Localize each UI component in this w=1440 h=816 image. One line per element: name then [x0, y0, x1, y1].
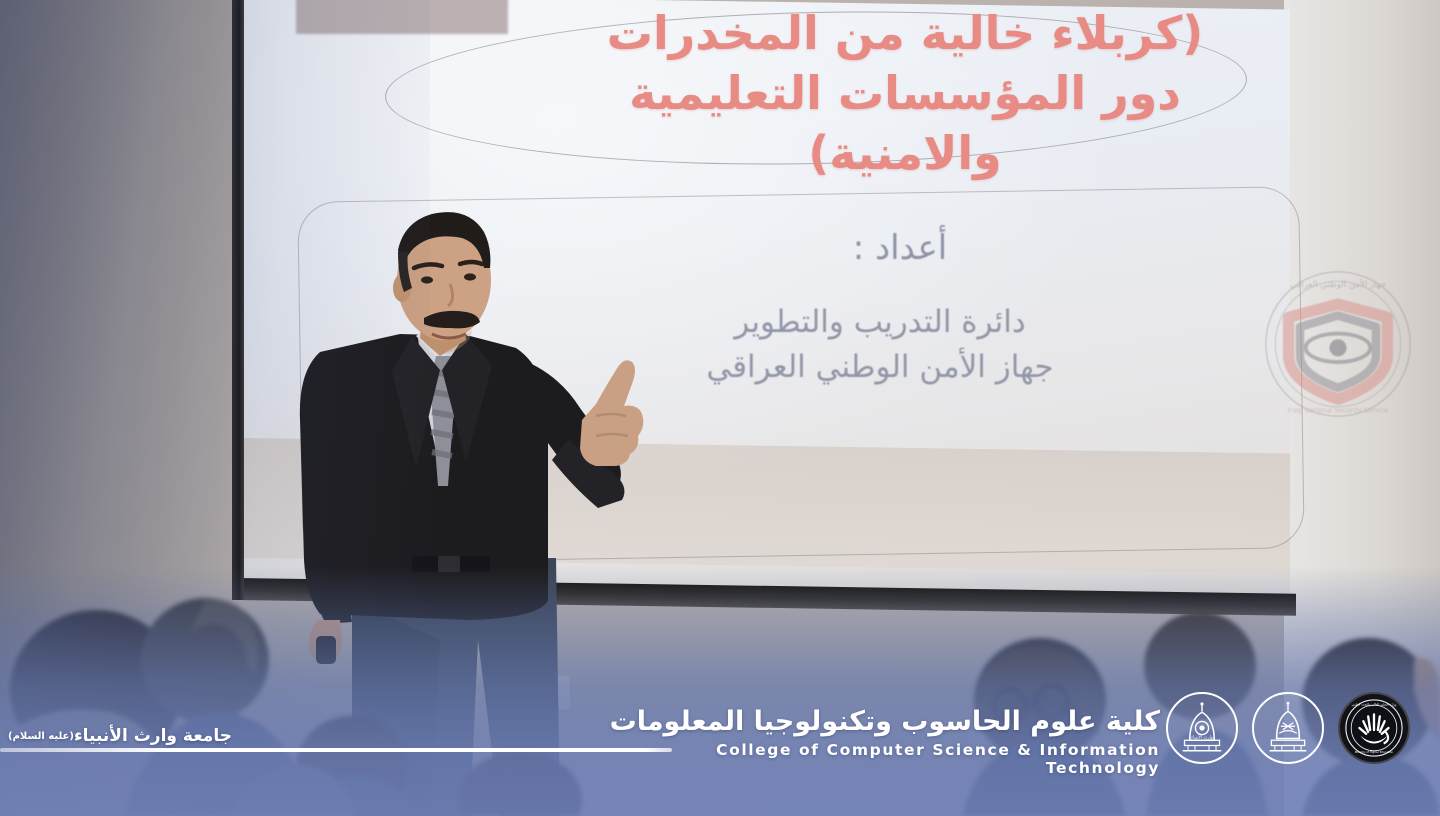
- banner-divider: [0, 748, 672, 752]
- university-watermark: جامعة وارث الأنبياء(عليه السلام): [8, 726, 232, 746]
- university-shrine-icon: وارث الأنبياء: [1174, 700, 1230, 756]
- university-watermark-honorific: (عليه السلام): [8, 731, 74, 742]
- ministry-of-higher-education-and-scientific-research-logo-icon: وزارة التعليم العالي والبحث العلمي Minis…: [1338, 692, 1410, 764]
- warith-al-anbiya-university-logo-alt-icon: [1252, 692, 1324, 764]
- warith-al-anbiya-university-logo-outline-icon: وارث الأنبياء: [1166, 692, 1238, 764]
- ministry-emblem-icon: وزارة التعليم العالي والبحث العلمي Minis…: [1343, 697, 1405, 759]
- svg-text:Ministry of Higher Education: Ministry of Higher Education: [1355, 750, 1394, 754]
- university-shrine-alt-icon: [1260, 700, 1316, 756]
- university-watermark-name: جامعة وارث الأنبياء: [74, 726, 232, 746]
- banner: كلية علوم الحاسوب وتكنولوجيا المعلومات C…: [600, 706, 1160, 777]
- svg-text:وزارة التعليم العالي والبحث ال: وزارة التعليم العالي والبحث العلمي: [1352, 703, 1397, 707]
- banner-arabic-title: كلية علوم الحاسوب وتكنولوجيا المعلومات: [600, 706, 1160, 737]
- logo-row: وارث الأنبياء وز: [1166, 692, 1410, 764]
- banner-english-title: College of Computer Science & Informatio…: [600, 741, 1160, 777]
- photo-screenshot: (كربلاء خالية من المخدرات دور المؤسسات ا…: [0, 0, 1440, 816]
